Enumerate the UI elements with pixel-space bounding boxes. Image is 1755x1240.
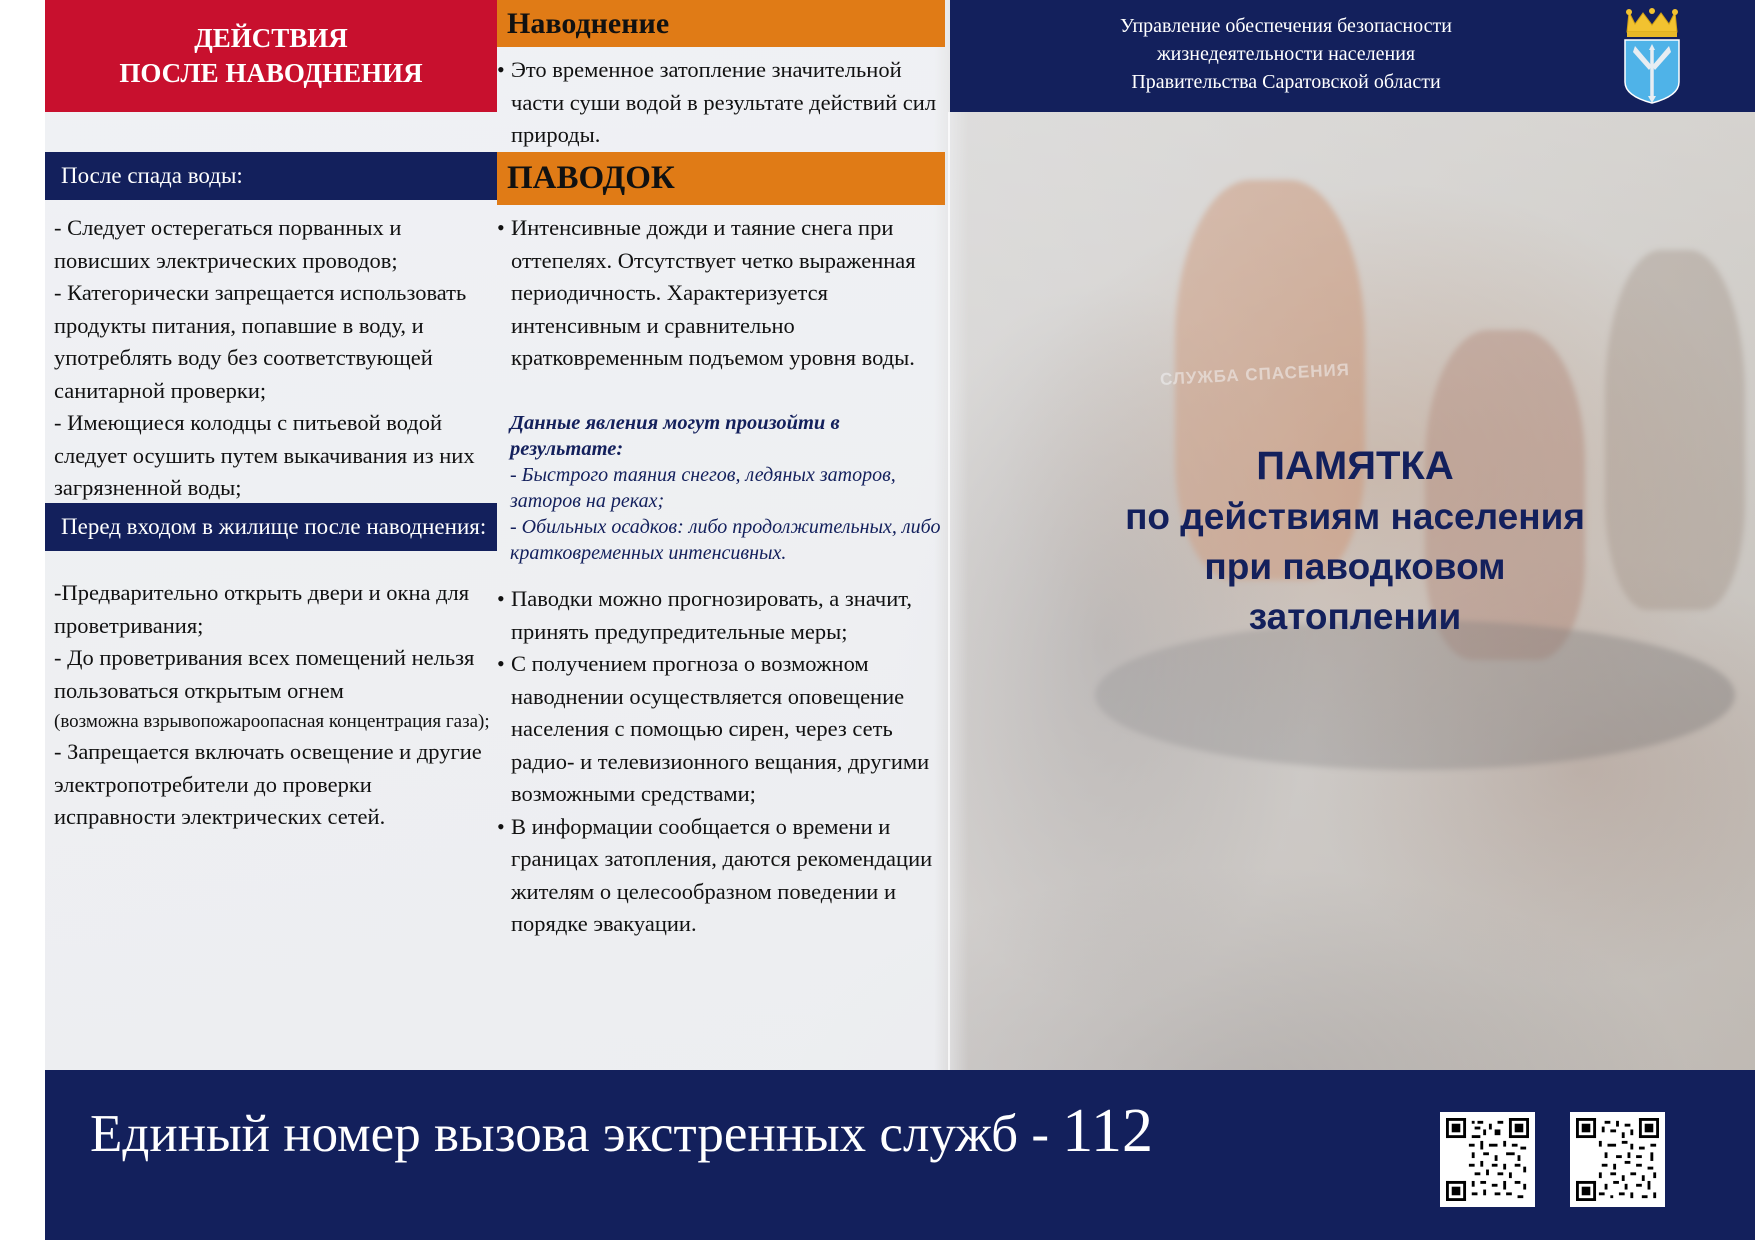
poster-page: СЛУЖБА СПАСЕНИЯ ДЕЙСТВИЯ ПОСЛЕ НАВОДНЕНИ…: [0, 0, 1755, 1240]
qr-code-left[interactable]: [1440, 1112, 1535, 1207]
left-section1-body: - Следует остерегаться порванных и повис…: [54, 212, 494, 505]
left-section2-note: (возможна взрывопожароопасная концентрац…: [54, 707, 494, 736]
left-header-line1: ДЕЙСТВИЯ: [119, 21, 422, 56]
poster-title-line4: затоплении: [960, 592, 1750, 642]
organization-name: Управление обеспечения безопасности жизн…: [986, 12, 1586, 96]
middle-block1-body: Это временное затопление значительной ча…: [497, 54, 947, 152]
middle-italic-block: Данные явления могут произойти в результ…: [510, 410, 950, 566]
middle-block1-bullet: Это временное затопление значительной ча…: [497, 54, 947, 152]
middle-block3-body: Паводки можно прогнозировать, а значит, …: [497, 583, 949, 941]
poster-title-line3: при паводковом: [960, 542, 1750, 592]
left-section2-body: -Предварительно открыть двери и окна для…: [54, 577, 494, 834]
middle-header-pavodok: ПАВОДОК: [497, 152, 945, 205]
poster-title-line1: ПАМЯТКА: [960, 440, 1750, 492]
middle-block2-body: Интенсивные дожди и таяние снега при отт…: [497, 212, 947, 375]
middle-italic-item-1: - Обильных осадков: либо продолжительных…: [510, 514, 950, 566]
emergency-number-text: Единый номер вызова экстренных служб - 1…: [90, 1098, 1153, 1167]
emergency-number-value: 112: [1062, 1097, 1153, 1165]
left-section2-last-line: - Запрещается включать освещение и други…: [54, 736, 494, 834]
section-bar-after-water: После спада воды:: [45, 152, 497, 200]
left-section2-line-0: -Предварительно открыть двери и окна для…: [54, 577, 494, 642]
section-bar-before-entry-label: Перед входом в жилище после наводнения:: [61, 514, 486, 539]
left-header-line2: ПОСЛЕ НАВОДНЕНИЯ: [119, 56, 422, 91]
section-bar-after-water-label: После спада воды:: [61, 163, 243, 188]
middle-italic-heading: Данные явления могут произойти в результ…: [510, 410, 950, 462]
section-bar-before-entry: Перед входом в жилище после наводнения:: [45, 503, 497, 551]
middle-header-pavodok-label: ПАВОДОК: [507, 160, 675, 196]
middle-block3-bullet-0: Паводки можно прогнозировать, а значит, …: [497, 583, 949, 648]
qr-code-right[interactable]: [1570, 1112, 1665, 1207]
poster-title-line2: по действиям населения: [960, 492, 1750, 542]
left-section1-line-1: - Категорически запрещается использовать…: [54, 277, 494, 407]
middle-header-flood-label: Наводнение: [507, 7, 669, 40]
coat-of-arms-icon: [1615, 8, 1689, 104]
organization-name-line3: Правительства Саратовской области: [986, 68, 1586, 96]
left-page-margin: [0, 0, 45, 1240]
left-section2-line-1: - До проветривания всех помещений нельзя…: [54, 642, 494, 707]
left-header-banner: ДЕЙСТВИЯ ПОСЛЕ НАВОДНЕНИЯ: [45, 0, 497, 112]
emergency-number-label: Единый номер вызова экстренных служб -: [90, 1105, 1062, 1163]
middle-italic-item-0: - Быстрого таяния снегов, ледяных заторо…: [510, 462, 950, 514]
middle-block3-bullet-2: В информации сообщается о времени и гран…: [497, 811, 949, 941]
left-section1-line-0: - Следует остерегаться порванных и повис…: [54, 212, 494, 277]
poster-title: ПАМЯТКА по действиям населения при павод…: [960, 440, 1750, 642]
organization-name-line2: жизнедеятельности населения: [986, 40, 1586, 68]
left-section1-line-2: - Имеющиеся колодцы с питьевой водой сле…: [54, 407, 494, 505]
middle-block3-bullet-1: С получением прогноза о возможном наводн…: [497, 648, 949, 811]
middle-header-flood: Наводнение: [497, 0, 945, 47]
organization-name-line1: Управление обеспечения безопасности: [986, 12, 1586, 40]
middle-block2-bullet: Интенсивные дожди и таяние снега при отт…: [497, 212, 947, 375]
